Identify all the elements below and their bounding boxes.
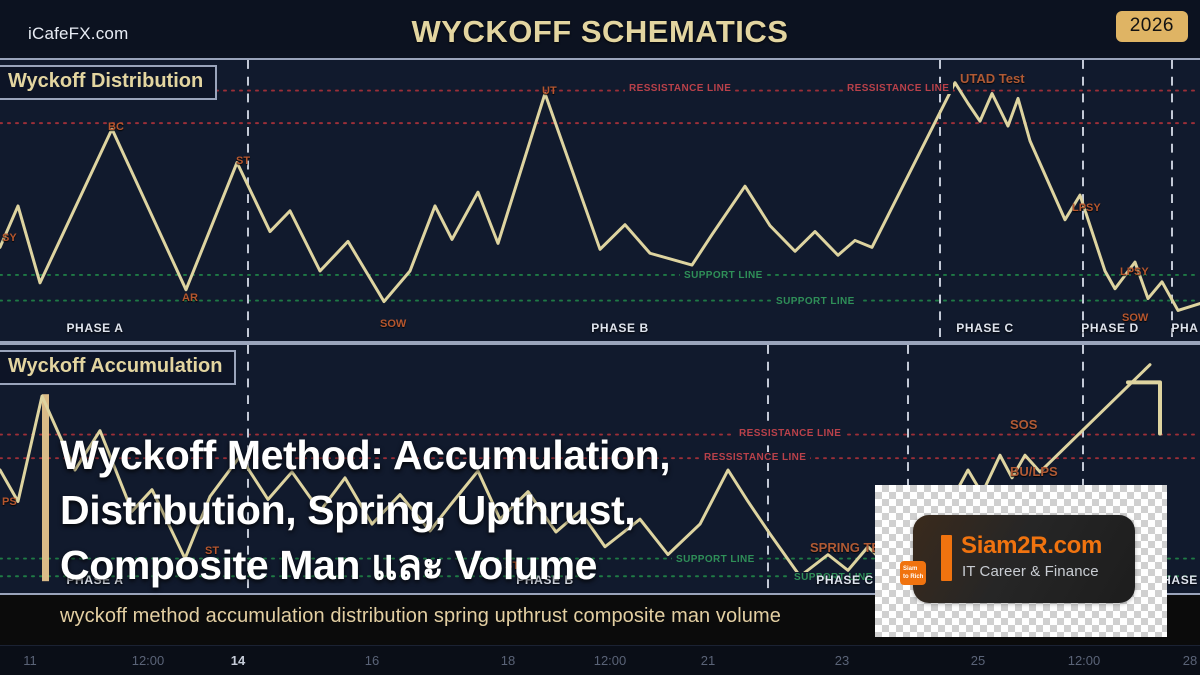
year-badge: 2026 bbox=[1116, 11, 1188, 42]
level-label-resistance: RESSISTANCE LINE bbox=[625, 83, 735, 94]
phase-label-phase-d: PHASE D bbox=[1081, 321, 1139, 335]
phase-label-pha: PHA bbox=[1171, 321, 1198, 335]
screenshot-root: iCafeFX.com WYCKOFF SCHEMATICS 2026 Wyck… bbox=[0, 0, 1200, 675]
logo-watermark: Siam2R.com IT Career & Finance Siam to R… bbox=[875, 485, 1167, 637]
annotation-ps: PS bbox=[2, 496, 17, 508]
annotation-bc: BC bbox=[108, 121, 124, 133]
logo-card: Siam2R.com IT Career & Finance bbox=[913, 515, 1135, 603]
annotation-ut: UT bbox=[542, 85, 557, 97]
uptrend-arrow-icon bbox=[1128, 382, 1160, 433]
axis-tick: 18 bbox=[501, 653, 515, 668]
headline-text: Wyckoff Method: Accumulation, Distributi… bbox=[60, 428, 760, 593]
axis-tick: 16 bbox=[365, 653, 379, 668]
price-line bbox=[0, 83, 1200, 311]
phase-label-phase-b: PHASE B bbox=[591, 321, 649, 335]
level-label-support: SUPPORT LINE bbox=[772, 296, 859, 307]
annotation-lpsy: LPSY bbox=[1072, 202, 1101, 214]
logo-brand-name: Siam2R.com bbox=[961, 532, 1102, 560]
axis-tick: 12:00 bbox=[594, 653, 627, 668]
annotation-bu-lps: BU/LPS bbox=[1010, 464, 1058, 479]
level-label-resistance: RESSISTANCE LINE bbox=[843, 83, 953, 94]
phase-label-phase-a: PHASE A bbox=[66, 321, 123, 335]
annotation-st: ST bbox=[236, 155, 250, 167]
annotation-lpsy: LPSY bbox=[1120, 266, 1149, 278]
axis-tick: 23 bbox=[835, 653, 849, 668]
annotation-ar: AR bbox=[182, 292, 198, 304]
annotation-sy: SY bbox=[2, 232, 17, 244]
header-band: iCafeFX.com WYCKOFF SCHEMATICS 2026 bbox=[0, 0, 1200, 58]
logo-tagline: IT Career & Finance bbox=[962, 563, 1099, 580]
phase-label-phase-c: PHASE C bbox=[956, 321, 1014, 335]
axis-tick: 25 bbox=[971, 653, 985, 668]
logo-bar-icon bbox=[941, 535, 952, 581]
page-title: WYCKOFF SCHEMATICS bbox=[0, 14, 1200, 50]
panel-title-accumulation: Wyckoff Accumulation bbox=[0, 350, 236, 385]
axis-tick: 21 bbox=[701, 653, 715, 668]
logo-chip-badge: Siam to Rich bbox=[900, 561, 926, 585]
logo-chip-line2: to Rich bbox=[903, 574, 923, 580]
axis-tick: 12:00 bbox=[1068, 653, 1101, 668]
annotation-sos: SOS bbox=[1010, 417, 1037, 432]
time-axis: 1112:0014161812:0021232512:0028 bbox=[0, 645, 1200, 675]
axis-tick: 14 bbox=[231, 653, 245, 668]
chart-panel-distribution: Wyckoff Distribution bbox=[0, 58, 1200, 343]
distribution-svg bbox=[0, 60, 1200, 341]
axis-tick: 28 bbox=[1183, 653, 1197, 668]
distribution-plot bbox=[0, 60, 1200, 341]
axis-tick: 11 bbox=[23, 653, 37, 668]
annotation-utad-test: UTAD Test bbox=[960, 71, 1025, 86]
phase-label-phase-c: PHASE C bbox=[816, 573, 874, 587]
annotation-sow: SOW bbox=[380, 318, 406, 330]
logo-chip-line1: Siam bbox=[903, 566, 917, 572]
panel-title-distribution: Wyckoff Distribution bbox=[0, 65, 217, 100]
axis-tick: 12:00 bbox=[132, 653, 165, 668]
caption-keywords: wyckoff method accumulation distribution… bbox=[60, 605, 781, 628]
level-label-support: SUPPORT LINE bbox=[680, 270, 767, 281]
